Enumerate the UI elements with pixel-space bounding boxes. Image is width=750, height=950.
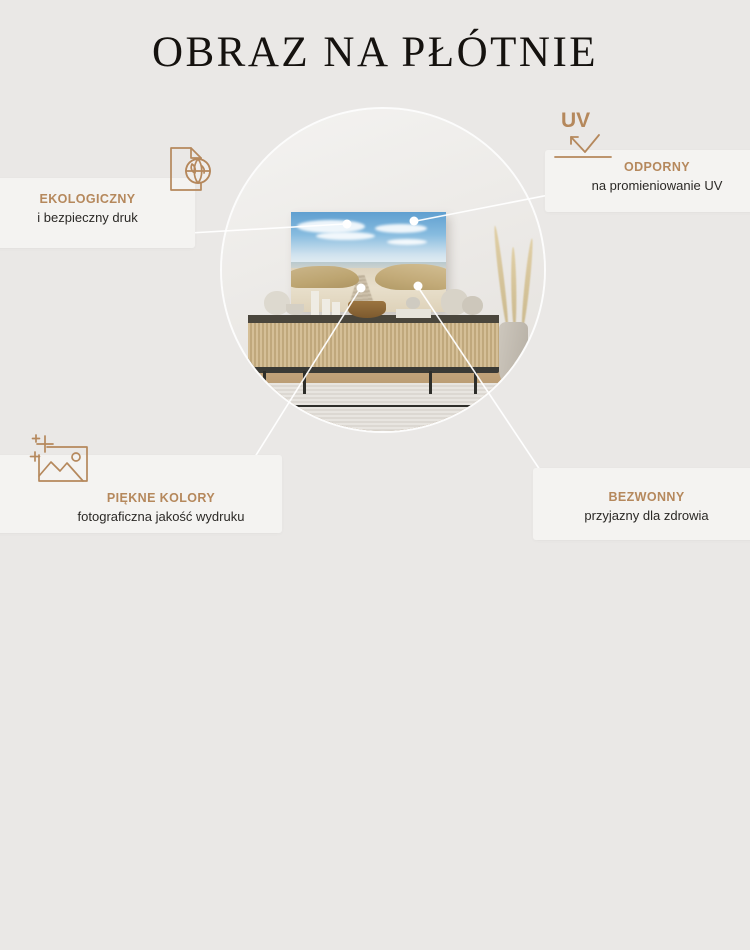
artwork-dune-right <box>375 264 446 290</box>
decor-candle <box>311 291 319 315</box>
feature-colors-heading: PIĘKNE KOLORY <box>36 491 286 507</box>
room-photo <box>222 109 544 431</box>
page-title: OBRAZ NA PŁÓTNIE <box>0 28 750 77</box>
feature-odor-subtext: przyjazny dla zdrowia <box>539 508 750 525</box>
infographic-stage: OBRAZ NA PŁÓTNIE <box>0 0 750 600</box>
sideboard-fluted-front <box>248 323 499 367</box>
feature-colors-text: PIĘKNE KOLORY fotograficzna jakość wydru… <box>36 491 286 526</box>
cloud <box>387 239 427 245</box>
decor-candle <box>332 302 340 315</box>
decor-vase <box>462 296 483 315</box>
sideboard-legs <box>248 371 499 394</box>
feature-odor-text: BEZWONNY przyjazny dla zdrowia <box>539 490 750 525</box>
cloud <box>297 220 365 233</box>
cloud <box>375 224 428 233</box>
eco-document-globe-icon <box>158 142 220 200</box>
floor-vase <box>499 322 528 386</box>
sideboard <box>248 315 499 373</box>
sideboard-leg-bar <box>238 405 515 407</box>
artwork-dune-left <box>291 266 359 288</box>
cloud <box>316 232 375 240</box>
uv-icon-label: UV <box>561 109 590 132</box>
feature-odor-heading: BEZWONNY <box>539 490 750 506</box>
decor-books <box>396 309 431 318</box>
feature-uv-text: ODPORNY na promieniowanie UV <box>559 160 750 195</box>
decor-sphere <box>406 297 420 309</box>
feature-colors-subtext: fotograficzna jakość wydruku <box>36 509 286 526</box>
uv-resistance-icon: UV <box>547 107 625 165</box>
product-scene-circle <box>222 109 544 431</box>
sparkle-photo-icon <box>25 430 97 488</box>
feature-card-odor[interactable]: BEZWONNY przyjazny dla zdrowia <box>533 468 750 540</box>
decor-candle <box>322 299 330 315</box>
feature-uv-subtext: na promieniowanie UV <box>559 178 750 195</box>
feature-eco-subtext: i bezpieczny druk <box>0 210 185 227</box>
